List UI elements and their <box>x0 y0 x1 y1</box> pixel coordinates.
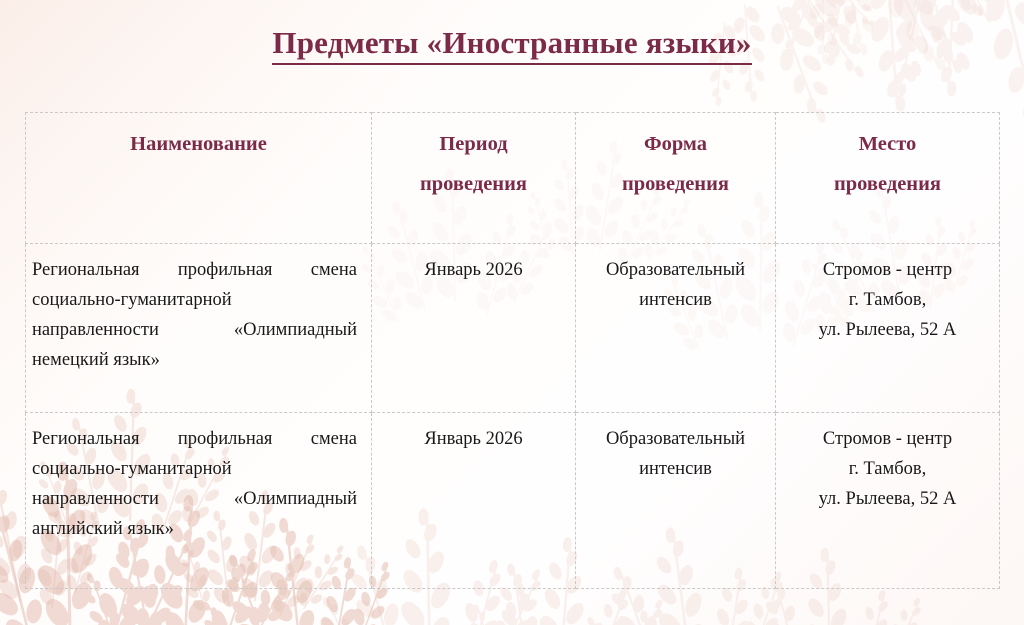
cell-name: Региональная профильная смена социально-… <box>26 413 372 589</box>
cell-name-text: Региональная профильная смена социально-… <box>26 244 371 376</box>
cell-name-text: Региональная профильная смена социально-… <box>26 413 371 545</box>
column-header-period-line2: проведения <box>382 165 565 205</box>
column-header-place: Место проведения <box>776 113 1000 244</box>
schedule-table: Наименование Период проведения Форма про… <box>25 112 1000 589</box>
cell-place-line3: ул. Рылеева, 52 А <box>786 316 989 346</box>
cell-period: Январь 2026 <box>372 413 576 589</box>
column-header-form-line2: проведения <box>586 165 765 205</box>
cell-place: Стромов - центр г. Тамбов, ул. Рылеева, … <box>776 413 1000 589</box>
cell-form: Образовательный интенсив <box>576 413 776 589</box>
column-header-place-line2: проведения <box>786 165 989 205</box>
cell-form-line1: Образовательный <box>586 425 765 455</box>
column-header-name: Наименование <box>26 113 372 244</box>
cell-name: Региональная профильная смена социально-… <box>26 244 372 413</box>
page-title: Предметы «Иностранные языки» <box>272 26 751 65</box>
cell-place: Стромов - центр г. Тамбов, ул. Рылеева, … <box>776 244 1000 413</box>
cell-period: Январь 2026 <box>372 244 576 413</box>
cell-place-line2: г. Тамбов, <box>786 455 989 485</box>
table-body: Региональная профильная смена социально-… <box>26 244 1000 589</box>
table-row: Региональная профильная смена социально-… <box>26 244 1000 413</box>
cell-form-line2: интенсив <box>586 455 765 485</box>
cell-period-text: Январь 2026 <box>372 413 575 455</box>
column-header-form-line1: Форма <box>586 125 765 165</box>
table-header: Наименование Период проведения Форма про… <box>26 113 1000 244</box>
table-row: Региональная профильная смена социально-… <box>26 413 1000 589</box>
cell-place-line1: Стромов - центр <box>786 425 989 455</box>
cell-place-line1: Стромов - центр <box>786 256 989 286</box>
slide-title-container: Предметы «Иностранные языки» <box>0 26 1024 65</box>
cell-form: Образовательный интенсив <box>576 244 776 413</box>
column-header-form: Форма проведения <box>576 113 776 244</box>
cell-form-line2: интенсив <box>586 286 765 316</box>
cell-form-line1: Образовательный <box>586 256 765 286</box>
header-row: Наименование Период проведения Форма про… <box>26 113 1000 244</box>
column-header-period-line1: Период <box>382 125 565 165</box>
column-header-place-line1: Место <box>786 125 989 165</box>
column-header-name-line1: Наименование <box>36 125 361 165</box>
cell-place-line3: ул. Рылеева, 52 А <box>786 485 989 515</box>
cell-period-text: Январь 2026 <box>372 244 575 286</box>
column-header-period: Период проведения <box>372 113 576 244</box>
cell-place-line2: г. Тамбов, <box>786 286 989 316</box>
